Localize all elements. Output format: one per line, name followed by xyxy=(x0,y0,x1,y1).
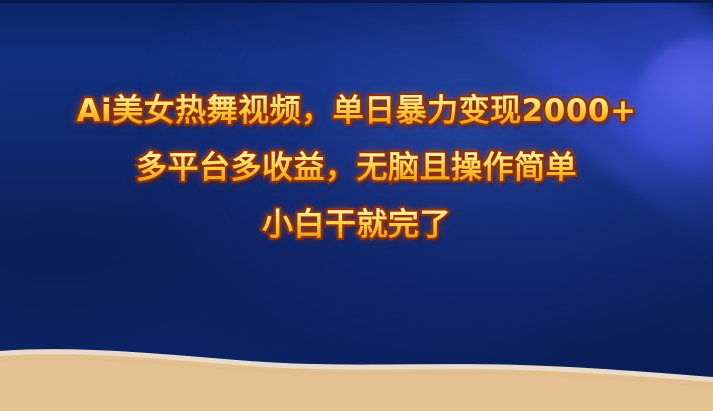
sand-dune-wave xyxy=(0,321,713,411)
dark-top-strip-edge xyxy=(0,0,713,3)
promo-banner: Ai美女热舞视频，单日暴力变现2000+ Ai美女热舞视频，单日暴力变现2000… xyxy=(0,0,713,411)
